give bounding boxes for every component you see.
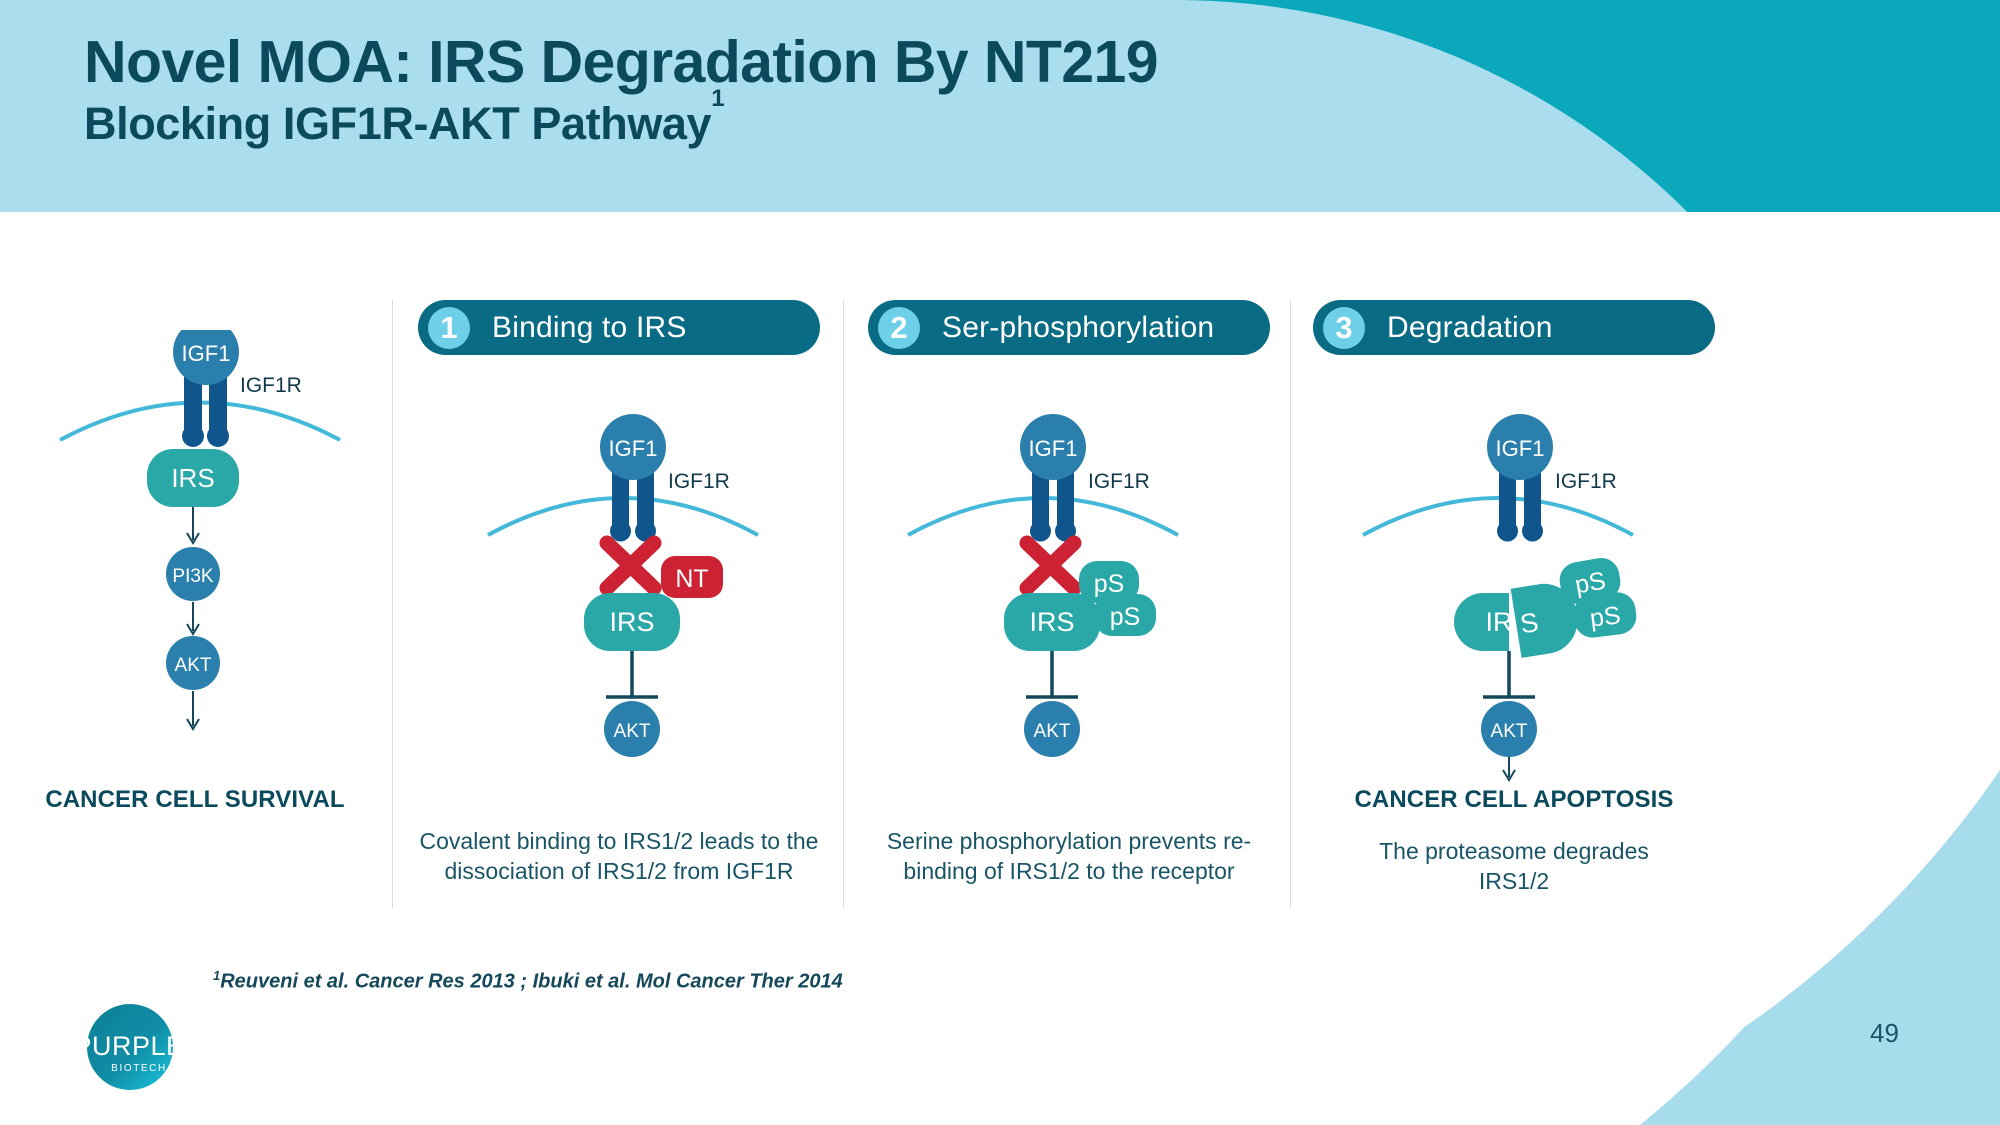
panel-3-number: 3 [1323,307,1365,349]
arrow-irs-pi3k [187,507,199,543]
panel-3-outcome: CANCER CELL APOPTOSIS [1313,786,1715,814]
panel-3: 3 Degradation IGF1 IGF1R IR S pS [1313,300,1715,897]
panel-2-title: Ser-phosphorylation [942,311,1214,345]
panel-1-header[interactable]: 1 Binding to IRS [418,300,820,355]
ps-badge-1-label: pS [1094,570,1125,598]
separator-2 [843,300,844,908]
akt-node-label: AKT [1034,721,1071,742]
ps-badge-2-label: pS [1588,601,1622,633]
page-subtitle-text: Blocking IGF1R-AKT Pathway [84,98,711,149]
igf1-node-label: IGF1 [182,341,231,366]
panel-3-caption: The proteasome degrades IRS1/2 [1344,836,1684,897]
panel-3-figure: IGF1 IGF1R IR S pS pS AKT [1313,365,1715,785]
panel-2-number: 2 [878,307,920,349]
akt-node-label: AKT [1491,721,1528,742]
panel-2-figure: IGF1 IGF1R IRS pS pS AKT [868,365,1270,785]
pi3k-node-label: PI3K [172,566,214,587]
panel-1-title: Binding to IRS [492,311,687,345]
block-cross-icon [607,543,654,588]
separator-3 [1290,300,1291,908]
irs-fragment-left-label: IR [1486,607,1513,637]
inhibition-connector [1483,651,1535,697]
block-cross-icon [1027,543,1074,588]
akt-node-label: AKT [614,721,651,742]
panel-2: 2 Ser-phosphorylation IGF1 IGF1R IRS pS … [868,300,1270,887]
inhibition-connector [606,651,658,697]
arrow-akt-outcome [187,691,199,729]
igf1r-label: IGF1R [1555,470,1617,493]
footnote: 1Reuveni et al. Cancer Res 2013 ; Ibuki … [213,968,843,994]
footnote-text: Reuveni et al. Cancer Res 2013 ; Ibuki e… [220,971,842,993]
igf1r-label: IGF1R [668,470,730,493]
page-number: 49 [1870,1018,1899,1049]
panel-2-caption: Serine phosphorylation prevents re-bindi… [868,826,1270,887]
panel-1-number: 1 [428,307,470,349]
arrow-pi3k-akt [187,602,199,634]
title-block: Novel MOA: IRS Degradation By NT219 Bloc… [84,32,1158,151]
irs-node-label: IRS [609,607,654,637]
igf1-node-label: IGF1 [609,436,658,461]
ps-badge-2-label: pS [1110,603,1141,631]
panel-1-caption: Covalent binding to IRS1/2 leads to the … [418,826,820,887]
nt-badge-label: NT [675,565,708,593]
irs-node-label: IRS [1029,607,1074,637]
igf1-node-label: IGF1 [1496,436,1545,461]
overview-pathway-figure: IGF1 IGF1R IRS PI3K AKT [40,330,390,830]
akt-node-label: AKT [175,655,212,676]
igf1r-label: IGF1R [1088,470,1150,493]
inhibition-connector [1026,651,1078,697]
logo-wordmark: PURPLE [73,1031,184,1061]
logo-tagline: BIOTECH [111,1063,167,1074]
overview-outcome-label: CANCER CELL SURVIVAL [0,786,390,814]
page-subtitle: Blocking IGF1R-AKT Pathway1 [84,98,1158,150]
irs-node-label: IRS [171,463,214,493]
separator-1 [392,300,393,908]
page-title: Novel MOA: IRS Degradation By NT219 [84,32,1158,93]
panel-1-figure: IGF1 IGF1R IRS NT AKT [418,365,820,785]
panel-1: 1 Binding to IRS IGF1 IGF1R IRS NT [418,300,820,887]
arrow-akt-outcome [1503,757,1515,780]
page-subtitle-superscript: 1 [711,85,724,112]
panel-3-header[interactable]: 3 Degradation [1313,300,1715,355]
igf1r-label: IGF1R [240,374,302,397]
panel-3-title: Degradation [1387,311,1553,345]
company-logo[interactable]: PURPLE BIOTECH [72,1000,192,1095]
panel-2-header[interactable]: 2 Ser-phosphorylation [868,300,1270,355]
igf1-node-label: IGF1 [1029,436,1078,461]
